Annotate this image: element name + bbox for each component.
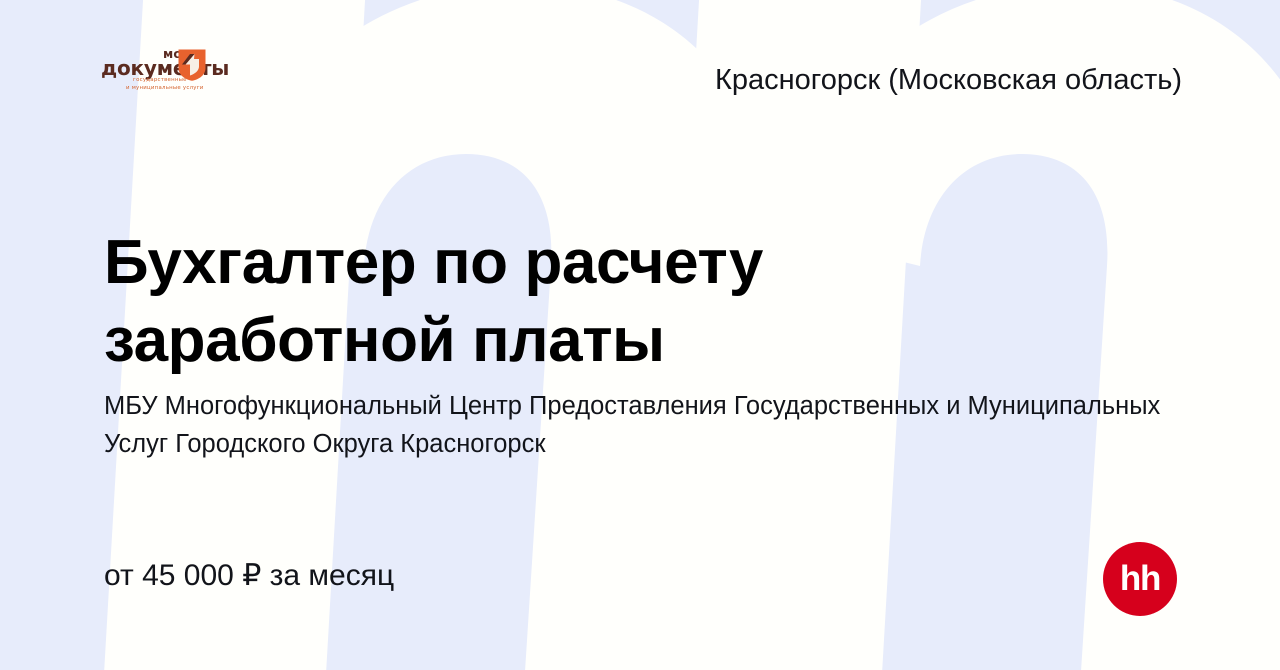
vacancy-title: Бухгалтер по расчету заработной платы bbox=[104, 224, 1004, 380]
hh-logo-icon[interactable]: hh bbox=[1103, 542, 1177, 616]
card-content: мои документы государственные и муниципа… bbox=[0, 0, 1280, 670]
employer-logo-wordmark: мои документы государственные и муниципа… bbox=[101, 46, 251, 102]
employer-logo-tagline-2: и муниципальные услуги bbox=[126, 85, 204, 91]
employer-logo[interactable]: мои документы государственные и муниципа… bbox=[101, 46, 311, 102]
employer-name: МБУ Многофункциональный Центр Предоставл… bbox=[104, 387, 1184, 463]
region-label: Красногорск (Московская область) bbox=[715, 62, 1182, 98]
shield-flame-icon bbox=[177, 48, 207, 82]
vacancy-card: мои документы государственные и муниципа… bbox=[0, 0, 1280, 670]
salary-label: от 45 000 ₽ за месяц bbox=[104, 556, 394, 596]
hh-logo-label: hh bbox=[1103, 542, 1177, 616]
